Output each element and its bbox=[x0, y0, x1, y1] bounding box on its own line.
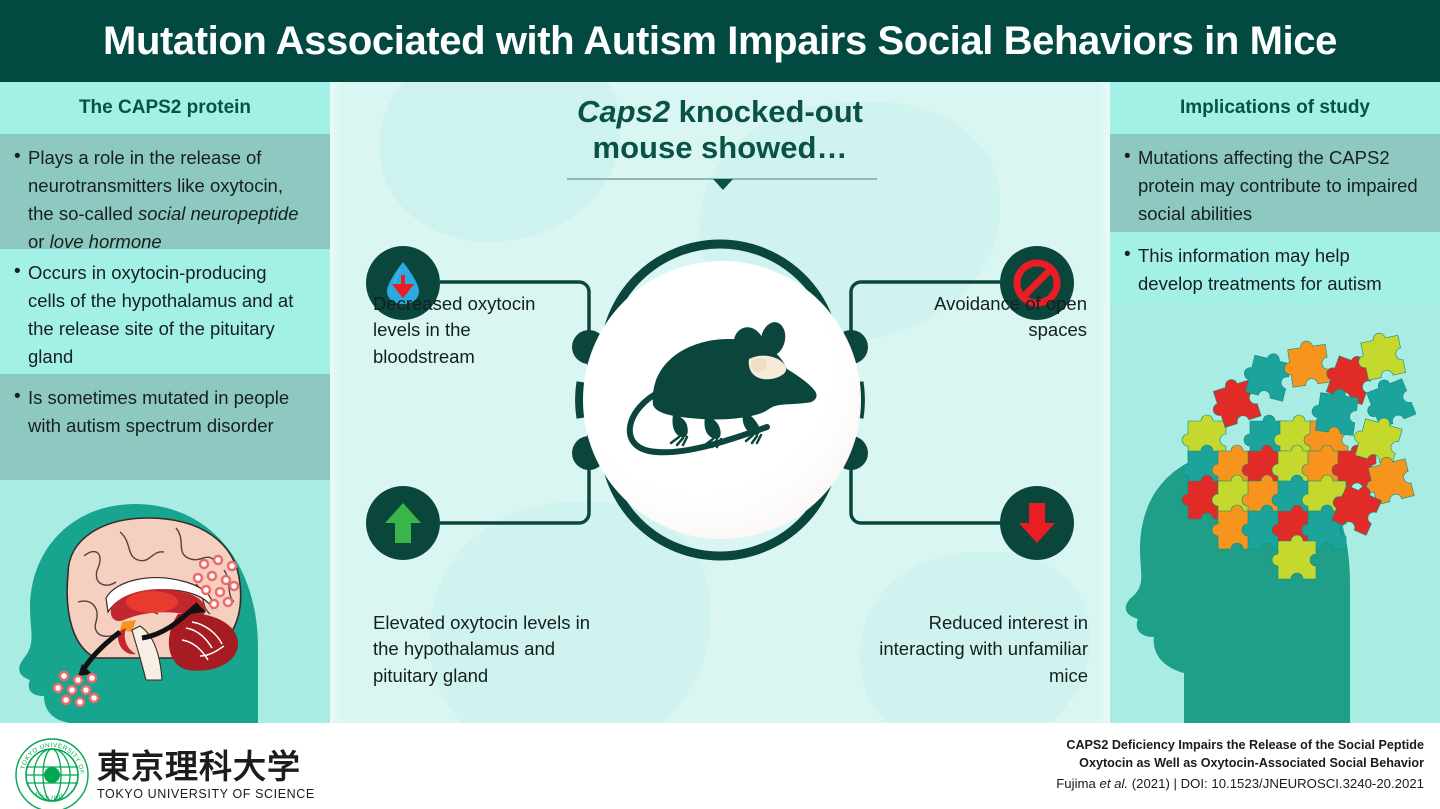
node-label-bottom-left: Elevated oxytocin levels in the hypothal… bbox=[373, 610, 613, 689]
left-bullet-band-2: Occurs in oxytocin-producing cells of th… bbox=[0, 249, 330, 374]
right-bullet-band-1: Mutations affecting the CAPS2 protein ma… bbox=[1110, 134, 1440, 232]
right-panel: Implications of study Mutations affectin… bbox=[1110, 82, 1440, 723]
citation-year-doi: (2021) | DOI: 10.1523/JNEUROSCI.3240-20.… bbox=[1128, 776, 1424, 791]
center-panel: Caps2 knocked-out mouse showed… bbox=[342, 82, 1098, 723]
list-item: Occurs in oxytocin-producing cells of th… bbox=[14, 259, 308, 371]
bullet-text: Mutations affecting the CAPS2 protein ma… bbox=[1138, 147, 1418, 224]
left-panel-heading: The CAPS2 protein bbox=[0, 82, 330, 134]
right-panel-divider bbox=[1098, 82, 1110, 723]
left-panel-divider bbox=[330, 82, 342, 723]
citation-title-line-1: CAPS2 Deficiency Impairs the Release of … bbox=[1056, 736, 1424, 754]
svg-text:since 1881: since 1881 bbox=[34, 789, 66, 801]
bullet-text: Occurs in oxytocin-producing cells of th… bbox=[28, 262, 293, 367]
seal-bottom-text: since 1881 bbox=[34, 789, 66, 801]
right-panel-heading: Implications of study bbox=[1110, 82, 1440, 134]
node-label-top-left: Decreased oxytocin levels in the bloodst… bbox=[373, 291, 573, 370]
left-bullet-band-3: Is sometimes mutated in people with auti… bbox=[0, 374, 330, 480]
right-panel-heading-label: Implications of study bbox=[1180, 97, 1370, 119]
body-area: The CAPS2 protein Plays a role in the re… bbox=[0, 82, 1440, 723]
footer-bar: TOKYO UNIVERSITY OF SCIENCE since 1881 東… bbox=[0, 723, 1440, 809]
left-bullet-band-1: Plays a role in the release of neurotran… bbox=[0, 134, 330, 249]
logo-english: TOKYO UNIVERSITY OF SCIENCE bbox=[97, 787, 315, 801]
left-panel: The CAPS2 protein Plays a role in the re… bbox=[0, 82, 330, 723]
bullet-text: This information may help develop treatm… bbox=[1138, 245, 1382, 294]
page-title: Mutation Associated with Autism Impairs … bbox=[103, 19, 1337, 64]
list-item: Is sometimes mutated in people with auti… bbox=[14, 384, 308, 440]
bullet-text: Is sometimes mutated in people with auti… bbox=[28, 387, 289, 436]
infographic-page: Mutation Associated with Autism Impairs … bbox=[0, 0, 1440, 809]
citation-reference: Fujima et al. (2021) | DOI: 10.1523/JNEU… bbox=[1056, 776, 1424, 791]
mouse-ring bbox=[557, 235, 887, 565]
node-label-bottom-right: Reduced interest in interacting with unf… bbox=[840, 610, 1088, 689]
citation-author: Fujima bbox=[1056, 776, 1099, 791]
head-puzzle-illustration bbox=[1110, 323, 1440, 723]
university-logo: TOKYO UNIVERSITY OF SCIENCE since 1881 東… bbox=[14, 737, 315, 809]
mouse-illustration bbox=[609, 313, 835, 489]
logo-japanese: 東京理科大学 bbox=[97, 750, 315, 783]
citation-title-line-2: Oxytocin as Well as Oxytocin-Associated … bbox=[1056, 754, 1424, 772]
citation: CAPS2 Deficiency Impairs the Release of … bbox=[1056, 736, 1424, 791]
university-seal-icon: TOKYO UNIVERSITY OF SCIENCE since 1881 bbox=[14, 737, 90, 809]
node-icon-bottom-right[interactable] bbox=[1000, 486, 1074, 560]
citation-etal: et al. bbox=[1099, 776, 1128, 791]
bullet-emphasis: social neuropeptide bbox=[138, 203, 298, 224]
down-arrow-icon bbox=[1018, 501, 1056, 545]
list-item: Mutations affecting the CAPS2 protein ma… bbox=[1124, 144, 1418, 228]
right-bullet-band-2: This information may help develop treatm… bbox=[1110, 232, 1440, 304]
brain-hypothalamus-illustration bbox=[0, 498, 330, 723]
left-panel-heading-label: The CAPS2 protein bbox=[79, 97, 251, 119]
list-item: Plays a role in the release of neurotran… bbox=[14, 144, 308, 256]
list-item: This information may help develop treatm… bbox=[1124, 242, 1418, 298]
up-arrow-icon bbox=[384, 501, 422, 545]
node-icon-bottom-left[interactable] bbox=[366, 486, 440, 560]
header-bar: Mutation Associated with Autism Impairs … bbox=[0, 0, 1440, 82]
node-label-top-right: Avoidance of open spaces bbox=[887, 291, 1087, 344]
logo-wordmark: 東京理科大学 TOKYO UNIVERSITY OF SCIENCE bbox=[97, 750, 315, 801]
